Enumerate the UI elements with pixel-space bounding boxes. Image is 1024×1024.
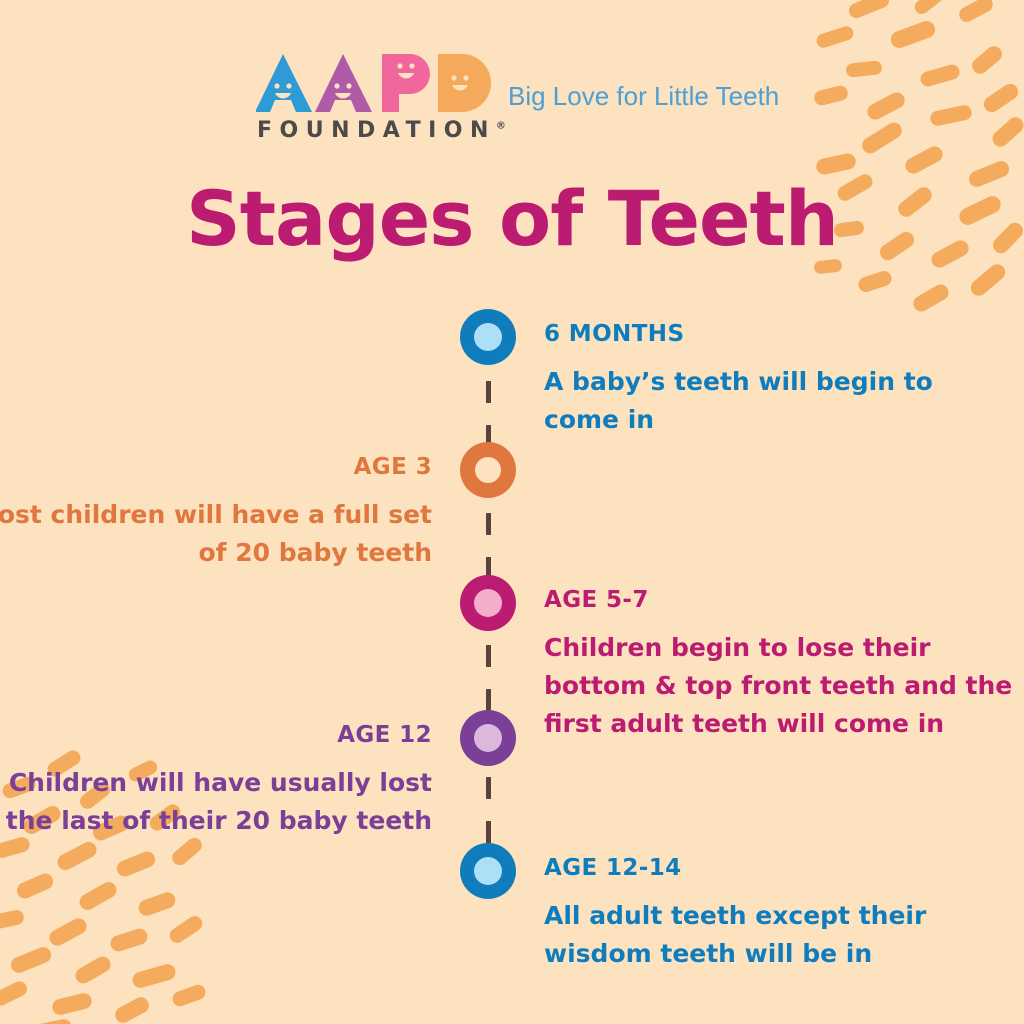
- stage-marker-icon-age-3: [460, 442, 516, 498]
- stage-marker-center: [474, 724, 502, 752]
- stages-timeline: 6 MONTHSA baby’s teeth will begin to com…: [0, 0, 1024, 1024]
- stage-label-age-12: AGE 12: [337, 722, 432, 748]
- stage-description-age-5-7: Children begin to lose their bottom & to…: [544, 629, 1014, 743]
- stage-description-age-12: Children will have usually lost the last…: [0, 764, 432, 840]
- stage-label-age-5-7: AGE 5-7: [544, 587, 649, 613]
- stage-marker-center: [474, 323, 502, 351]
- stage-marker-center: [475, 457, 501, 483]
- stage-description-age-3: Most children will have a full set of 20…: [0, 496, 432, 572]
- stage-label-age-12-14: AGE 12-14: [544, 855, 682, 881]
- stage-label-age-3: AGE 3: [354, 454, 432, 480]
- stage-marker-icon-age-12: [460, 710, 516, 766]
- stage-marker-icon-six-months: [460, 309, 516, 365]
- stage-description-six-months: A baby’s teeth will begin to come in: [544, 363, 1014, 439]
- stage-marker-icon-age-12-14: [460, 843, 516, 899]
- stage-marker-icon-age-5-7: [460, 575, 516, 631]
- infographic-page: FOUNDATION® Big Love for Little Teeth St…: [0, 0, 1024, 1024]
- stage-description-age-12-14: All adult teeth except their wisdom teet…: [544, 897, 1014, 973]
- stage-marker-center: [474, 589, 502, 617]
- stage-label-six-months: 6 MONTHS: [544, 321, 684, 347]
- stage-marker-center: [474, 857, 502, 885]
